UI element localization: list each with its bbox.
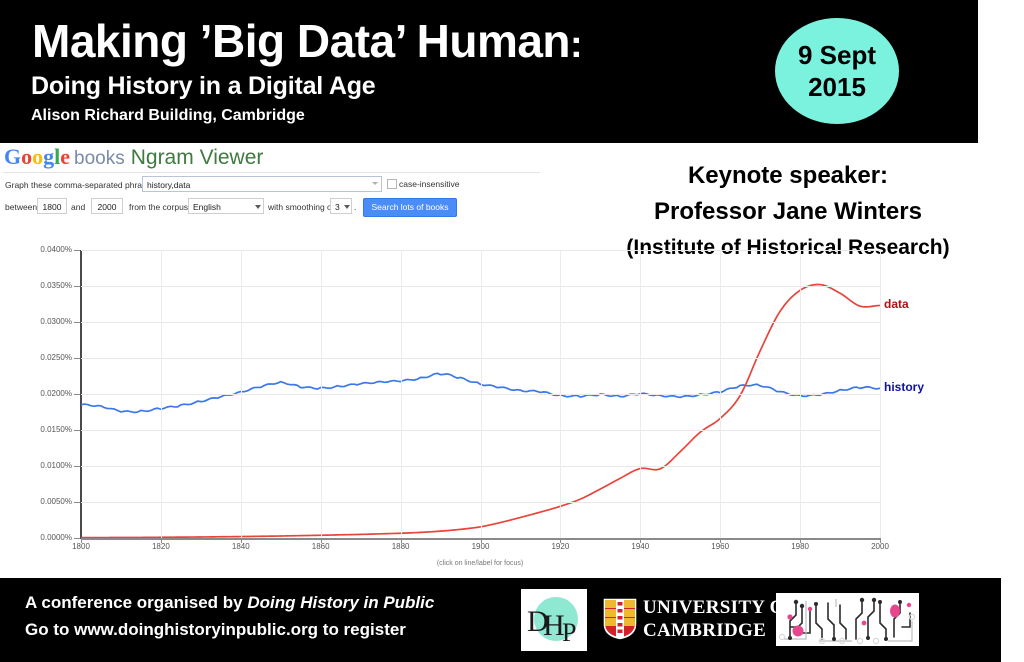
y-axis-label: 0.0400% — [14, 245, 72, 255]
y-axis-tick — [74, 430, 80, 431]
keynote-line-2: Professor Jane Winters — [560, 194, 1016, 230]
end-year-input[interactable]: 2000 — [91, 198, 123, 214]
x-axis-line — [81, 538, 880, 540]
google-letter-e: e — [60, 144, 70, 169]
page-title: Making ’Big Data’ Human: — [32, 16, 582, 70]
chevron-down-icon[interactable] — [372, 182, 378, 185]
y-axis-label: 0.0350% — [14, 281, 72, 291]
y-axis-label: 0.0100% — [14, 461, 72, 471]
x-axis-label: 1960 — [700, 542, 740, 552]
y-axis-tick — [74, 394, 80, 395]
search-button[interactable]: Search lots of books — [363, 198, 457, 217]
ngram-viewer-wordmark: Ngram Viewer — [131, 146, 264, 169]
y-axis-label: 0.0050% — [14, 497, 72, 507]
google-letter-o2: o — [32, 144, 43, 169]
dhp-logo: D H P — [521, 589, 587, 651]
google-letter-o1: o — [21, 144, 32, 169]
date-badge-line2: 2015 — [808, 71, 866, 103]
page-title-text: Making ’Big Data’ Human — [32, 15, 570, 67]
x-axis-label: 1920 — [540, 542, 580, 552]
smoothing-label: with smoothing of — [268, 198, 334, 216]
y-axis-tick — [74, 502, 80, 503]
x-gridline — [161, 250, 162, 538]
corpus-row: between 1800 and 2000 from the corpus En… — [3, 198, 543, 216]
y-axis-tick — [74, 466, 80, 467]
footer-line-1: A conference organised by Doing History … — [25, 589, 434, 616]
case-insensitive-label[interactable]: case-insensitive — [399, 176, 459, 193]
cambridge-line-2: CAMBRIDGE — [643, 619, 797, 642]
books-wordmark: books — [74, 148, 125, 169]
circuit-board-logo — [776, 593, 919, 646]
cambridge-line-1: UNIVERSITY OF — [643, 596, 797, 619]
x-axis-label: 1880 — [381, 542, 421, 552]
footer-line-2: Go to www.doinghistoryinpublic.org to re… — [25, 616, 434, 643]
chevron-down-icon[interactable] — [344, 205, 350, 209]
chevron-down-icon[interactable] — [255, 205, 261, 209]
footer-line-1-prefix: A conference organised by — [25, 593, 247, 612]
dhp-letters-icon: D H P — [521, 589, 587, 651]
y-axis-label: 0.0150% — [14, 425, 72, 435]
period-text: . — [354, 198, 356, 216]
chart-hint-text: (click on line/label for focus) — [0, 560, 960, 567]
circuit-board-icon — [776, 593, 919, 646]
x-gridline — [321, 250, 322, 538]
cambridge-shield-icon — [603, 598, 637, 640]
svg-text:P: P — [562, 618, 576, 647]
keynote-line-1: Keynote speaker: — [560, 158, 1016, 194]
y-axis-tick — [74, 286, 80, 287]
x-axis-label: 1860 — [301, 542, 341, 552]
y-axis-label: 0.0300% — [14, 317, 72, 327]
and-label: and — [71, 198, 85, 216]
search-input[interactable]: history,data — [142, 176, 382, 192]
date-badge-line1: 9 Sept — [798, 39, 876, 71]
phrases-row: Graph these comma-separated phrases: his… — [3, 176, 543, 194]
y-axis-tick — [74, 538, 80, 539]
title-banner: Making ’Big Data’ Human: Doing History i… — [0, 0, 978, 143]
cambridge-logo: UNIVERSITY OF CAMBRIDGE — [603, 596, 763, 644]
x-axis-label: 1840 — [221, 542, 261, 552]
page-title-colon: : — [570, 24, 582, 66]
y-axis-tick — [74, 322, 80, 323]
google-letter-g2: g — [43, 144, 54, 169]
x-gridline — [560, 250, 561, 538]
series-label-history[interactable]: history — [884, 380, 924, 394]
between-label: between — [5, 198, 37, 216]
page-subtitle: Doing History in a Digital Age — [31, 73, 376, 100]
y-axis-tick — [74, 358, 80, 359]
google-books-ngram-logo: GooglebooksNgram Viewer — [4, 145, 263, 171]
x-axis-label: 2000 — [860, 542, 900, 552]
ngram-chart[interactable]: (click on line/label for focus) 0.0000%0… — [0, 236, 1024, 576]
google-letter-g: G — [4, 144, 21, 169]
plot-area[interactable] — [81, 250, 880, 538]
y-axis-tick — [74, 250, 80, 251]
footer-line-1-italic: Doing History in Public — [247, 593, 434, 612]
footer-text: A conference organised by Doing History … — [25, 589, 434, 643]
cambridge-wordmark: UNIVERSITY OF CAMBRIDGE — [643, 596, 797, 642]
corpus-label: from the corpus — [129, 198, 188, 216]
y-axis-label: 0.0250% — [14, 353, 72, 363]
start-year-input[interactable]: 1800 — [37, 198, 67, 214]
series-label-data[interactable]: data — [884, 297, 909, 311]
x-gridline — [640, 250, 641, 538]
x-axis-label: 1980 — [780, 542, 820, 552]
corpus-select[interactable]: English — [188, 198, 264, 214]
x-gridline — [241, 250, 242, 538]
x-gridline — [880, 250, 881, 538]
x-axis-label: 1800 — [61, 542, 101, 552]
x-axis-label: 1820 — [141, 542, 181, 552]
phrases-label: Graph these comma-separated phrases: — [5, 176, 158, 194]
date-badge: 9 Sept 2015 — [775, 18, 899, 124]
x-gridline — [800, 250, 801, 538]
x-gridline — [481, 250, 482, 538]
case-insensitive-checkbox[interactable] — [387, 179, 397, 189]
page-venue: Alison Richard Building, Cambridge — [31, 107, 305, 125]
x-axis-label: 1940 — [620, 542, 660, 552]
header-divider — [3, 172, 540, 173]
x-gridline — [401, 250, 402, 538]
x-gridline — [720, 250, 721, 538]
x-axis-label: 1900 — [461, 542, 501, 552]
y-axis-label: 0.0200% — [14, 389, 72, 399]
